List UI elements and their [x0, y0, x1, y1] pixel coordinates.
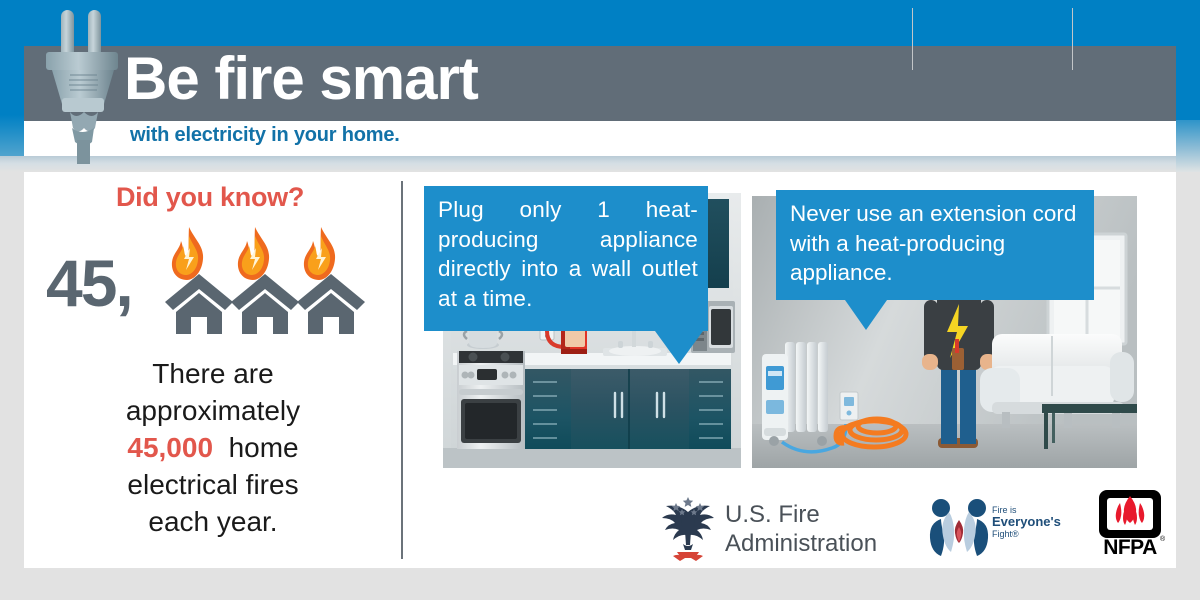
blurb-line-4: electrical fires — [127, 469, 298, 500]
tip-bubble-livingroom: Never use an extension cord with a heat-… — [776, 190, 1094, 300]
fief-line-2: Everyone's — [992, 515, 1061, 529]
tip-text-kitchen: Plug only 1 heat-producing appliance dir… — [438, 195, 698, 313]
header-blue-left-edge — [0, 46, 24, 161]
tip-bubble-kitchen: Plug only 1 heat-producing appliance dir… — [424, 186, 708, 331]
blurb-line-5: each year. — [148, 506, 277, 537]
column-divider — [401, 181, 403, 559]
blurb-line-3-rest: home — [221, 432, 299, 463]
statistic-graphic: 45, — [46, 228, 376, 338]
usfa-wordmark: U.S. Fire Administration — [725, 500, 877, 558]
house-icon — [164, 272, 234, 334]
logo-separator-2 — [1072, 8, 1073, 70]
house-icon — [230, 272, 300, 334]
usfa-line-2: Administration — [725, 529, 877, 558]
speech-bubble-tail-kitchen — [655, 331, 703, 364]
people-flame-icon — [928, 498, 990, 556]
blurb-highlight: 45,000 — [127, 432, 213, 463]
eagle-icon — [655, 492, 721, 564]
statistic-number: 45, — [46, 250, 132, 316]
page-subtitle: with electricity in your home. — [130, 124, 400, 147]
statistic-description: There are approximately 45,000 home elec… — [58, 355, 368, 540]
electrical-plug-icon — [36, 4, 132, 164]
usfa-line-1: U.S. Fire — [725, 500, 877, 529]
sofa — [980, 334, 1134, 428]
fief-line-3: Fight® — [992, 529, 1061, 539]
logo-separator-1 — [912, 8, 913, 70]
house-icon — [296, 272, 366, 334]
blurb-line-1: There are — [152, 358, 273, 389]
fire-is-everyones-fight-wordmark: Fire is Everyone's Fight® — [992, 505, 1061, 539]
blurb-line-2: approximately — [126, 395, 300, 426]
did-you-know-heading: Did you know? — [60, 182, 360, 213]
nfpa-registered-mark: ® — [1160, 536, 1165, 543]
nfpa-wordmark: NFPA — [1098, 536, 1162, 560]
speech-bubble-tail-livingroom — [845, 300, 887, 330]
nfpa-flame-icon — [1098, 489, 1162, 539]
header-blue-band — [0, 0, 1200, 46]
infographic-canvas: Be fire smart with electricity in your h… — [0, 0, 1200, 600]
tip-text-livingroom: Never use an extension cord with a heat-… — [790, 199, 1084, 288]
header-fade-band — [0, 156, 1200, 172]
page-title: Be fire smart — [124, 48, 478, 110]
header-fade-right — [1176, 120, 1200, 172]
